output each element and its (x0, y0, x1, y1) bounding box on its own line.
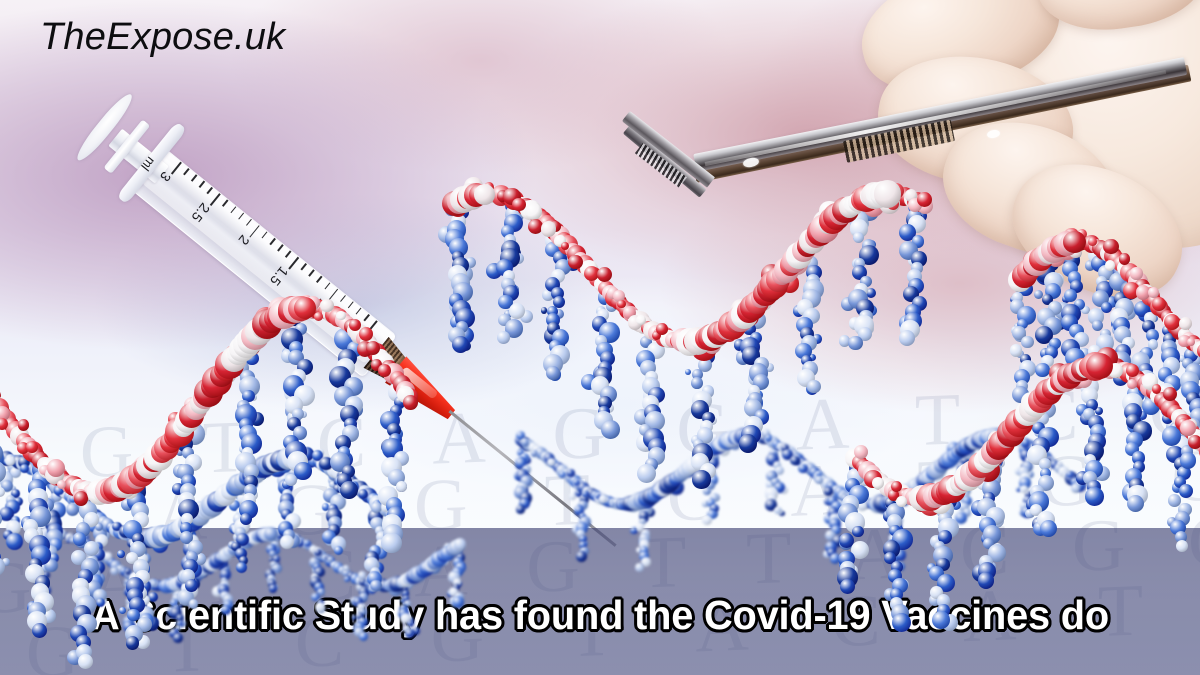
caption-headline: A Scientific Study has found the Covid-1… (18, 539, 1182, 675)
caption-line-1: A Scientific Study has found the Covid-1… (18, 590, 1182, 641)
article-header-image: A G T C A G G A T C G T A C G T C A G G … (0, 0, 1200, 675)
watermark-theexpose-uk: TheExpose.uk (40, 16, 285, 59)
